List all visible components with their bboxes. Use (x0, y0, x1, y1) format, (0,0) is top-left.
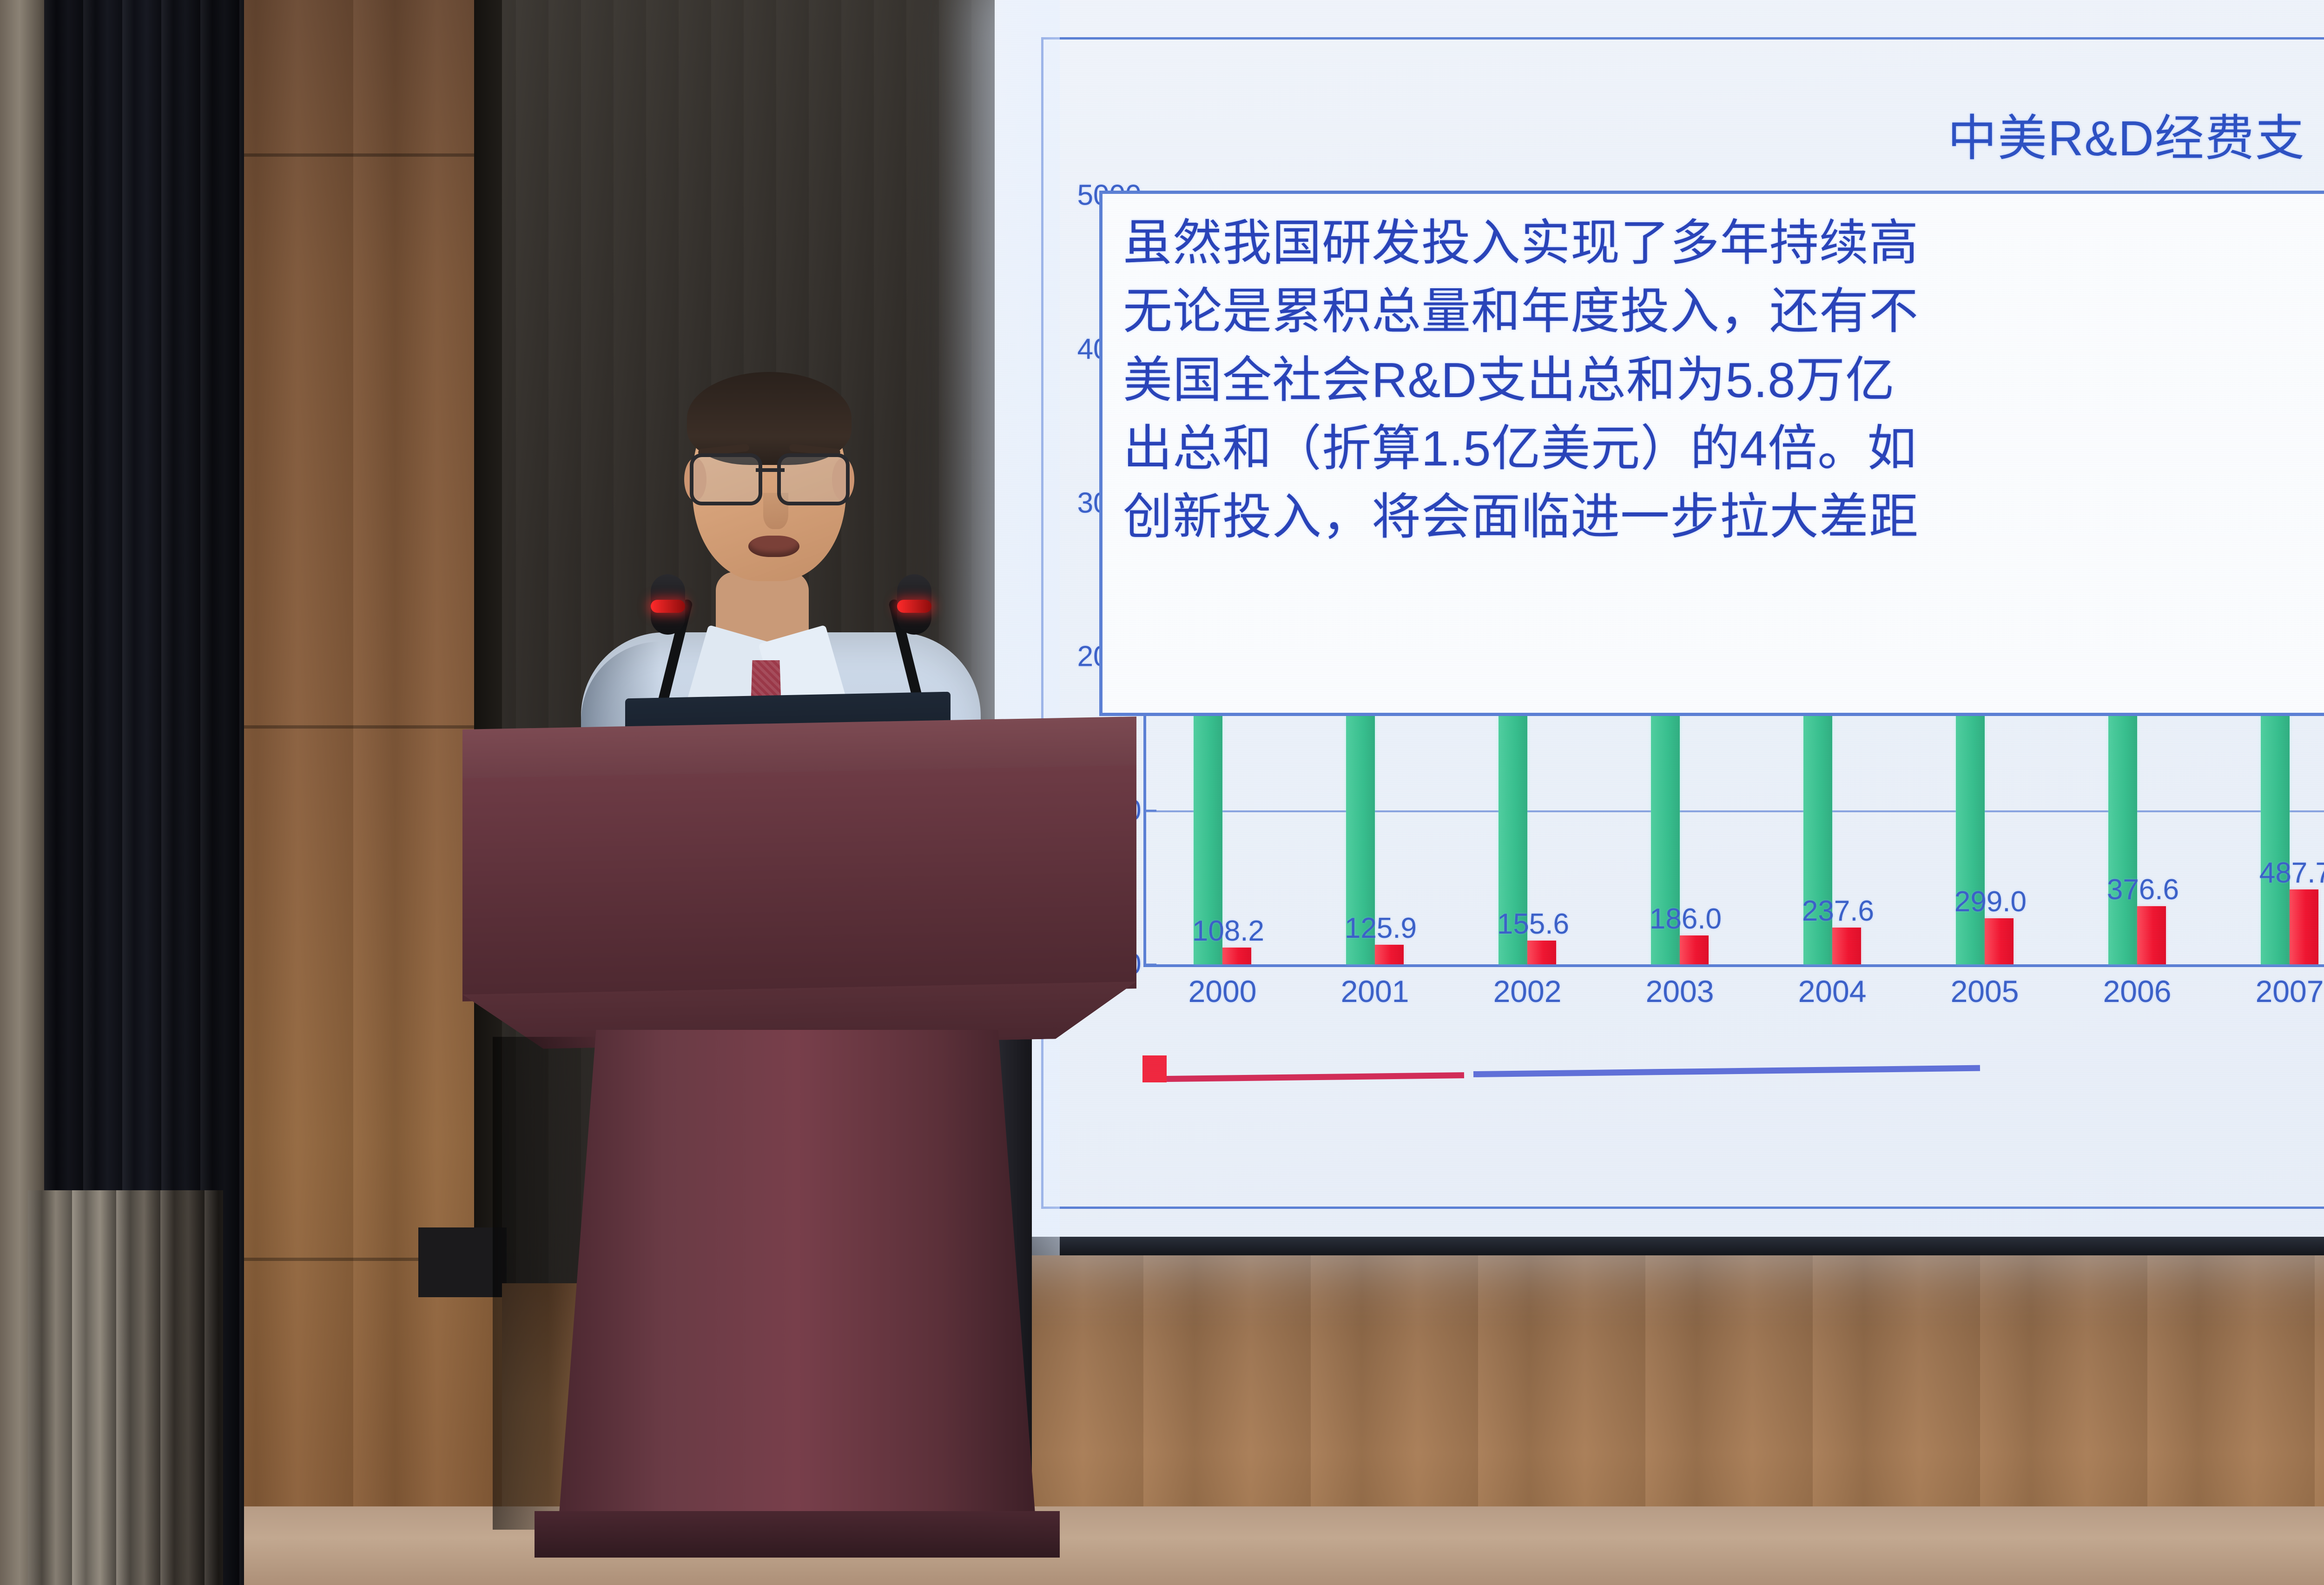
bar-data-label: 487.7 (2259, 856, 2324, 889)
bar-cn (2137, 906, 2166, 964)
glasses-bridge (756, 468, 785, 472)
x-axis-label: 2004 (1756, 974, 1908, 1009)
bar-data-label: 299.0 (1954, 885, 2027, 918)
podium-front-panel (462, 765, 1136, 1001)
photo-stage: 中美R&D经费支 5000 4000 3000 2000 1000 0 108.… (0, 0, 2324, 1585)
bar-data-label: 125.9 (1345, 912, 1417, 945)
bar-data-label: 108.2 (1192, 915, 1264, 948)
bar-data-label: 186.0 (1650, 902, 1722, 935)
x-axis-label: 2000 (1146, 974, 1299, 1009)
x-axis-label: 2003 (1604, 974, 1756, 1009)
x-axis-label: 2006 (2061, 974, 2213, 1009)
overlay-line-2: 无论是累积总量和年度投入，还有不 (1123, 282, 2324, 342)
podium-column (558, 1030, 1037, 1532)
bar-cn (1985, 918, 2014, 964)
speaker-nose (763, 493, 788, 529)
chart-x-axis-labels: 20002001200220032004200520062007 (1146, 974, 2324, 1009)
overlay-line-1: 虽然我国研发投入实现了多年持续高 (1123, 213, 2324, 273)
projection-screen: 中美R&D经费支 5000 4000 3000 2000 1000 0 108.… (995, 0, 2324, 1246)
screen-bottom-edge (985, 1237, 2324, 1255)
podium-base (535, 1511, 1060, 1558)
mic-indicator-left (651, 600, 685, 613)
legend-line-cn (1167, 1072, 1464, 1082)
bar-cn (1832, 928, 1861, 964)
x-axis-label: 2007 (2213, 974, 2324, 1009)
speaker-mouth (748, 536, 799, 557)
bar-data-label: 155.6 (1497, 908, 1569, 941)
slide-title: 中美R&D经费支 (1948, 112, 2305, 166)
bar-cn (2290, 889, 2318, 964)
bar-data-label: 237.6 (1802, 895, 1874, 928)
overlay-line-3: 美国全社会R&D支出总和为5.8万亿 (1123, 351, 2324, 411)
x-axis-label: 2002 (1451, 974, 1604, 1009)
bar-data-label: 376.6 (2107, 873, 2179, 906)
bar-cn (1527, 941, 1556, 964)
x-axis-label: 2001 (1299, 974, 1451, 1009)
overlay-line-5: 创新投入，将会面临进一步拉大差距 (1123, 487, 2324, 547)
bar-cn (1222, 948, 1251, 964)
bar-cn (1680, 935, 1709, 964)
overlay-line-4: 出总和（折算1.5亿美元）的4倍。如 (1123, 419, 2324, 479)
x-axis-label: 2005 (1908, 974, 2061, 1009)
curtain-stage-lower (28, 1190, 223, 1585)
legend-line-us (1473, 1065, 1980, 1077)
chart-legend (1142, 1055, 1691, 1083)
legend-swatch-cn (1142, 1055, 1167, 1082)
mic-indicator-right (897, 600, 931, 613)
slide-overlay-textbox: 虽然我国研发投入实现了多年持续高 无论是累积总量和年度投入，还有不 美国全社会R… (1099, 191, 2324, 716)
bar-cn (1375, 945, 1404, 964)
glasses-lens-left (690, 453, 762, 505)
